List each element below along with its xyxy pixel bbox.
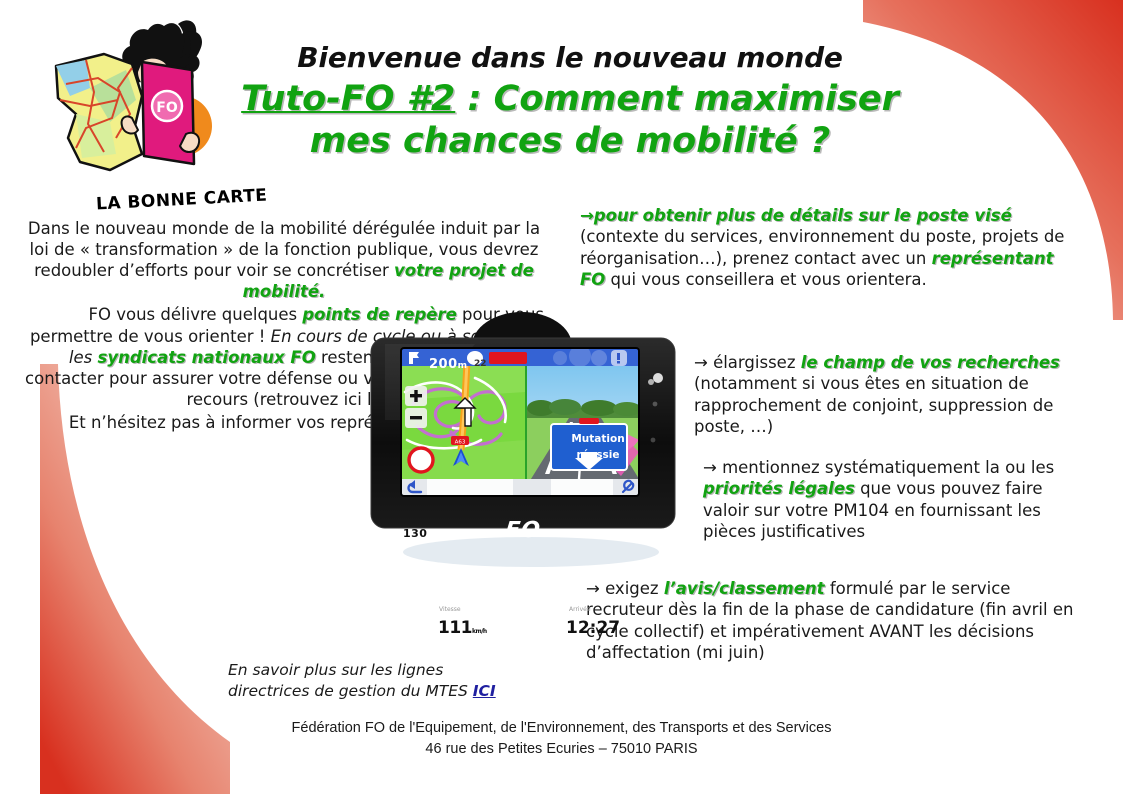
right-item-4: → exigez l’avis/classement formulé par l… [586, 578, 1086, 664]
right-item-2: → élargissez le champ de vos recherches … [694, 352, 1084, 438]
gps-distance-label: 200m [429, 357, 468, 372]
gps-brand-label: FO [504, 518, 542, 543]
gps-sign-line-2: réussie [552, 449, 644, 461]
right-item-1-text-2: qui vous conseillera et vous orientera. [605, 270, 926, 289]
title-line-1: Bienvenue dans le nouveau monde [185, 42, 955, 74]
ici-link[interactable]: ICI [473, 682, 496, 700]
right-item-4-highlight-1: l’avis/classement [664, 579, 825, 598]
right-item-1-highlight-1: pour obtenir plus de détails sur le post… [594, 206, 1012, 225]
right-item-2-highlight-1: le champ de vos recherches [801, 353, 1060, 372]
right-item-3: → mentionnez systématiquement la ou les … [703, 457, 1083, 543]
footer: Fédération FO de l'Equipement, de l'Envi… [0, 718, 1123, 760]
footer-line-2: 46 rue des Petites Ecuries – 75010 PARIS [0, 739, 1123, 760]
left-p2-text-1: FO vous délivre quelques [89, 305, 303, 324]
gps-arrival-caption: Arrivée [569, 606, 591, 613]
gps-distance-value: 200 [429, 357, 458, 372]
gps-sign-line-1: Mutation [552, 433, 644, 445]
gps-speed-limit-value: 130 [403, 527, 427, 540]
page-title: Bienvenue dans le nouveau monde Tuto-FO … [185, 42, 955, 162]
gps-arrival-time: 12:27 [566, 618, 620, 638]
gps-distance-unit: m [458, 361, 468, 371]
right-item-2-text-2: (notamment si vous êtes en situation de … [694, 374, 1053, 436]
gps-speed-number: 111 [438, 618, 472, 638]
gps-speed-unit: km/h [472, 628, 487, 635]
right-item-3-text-1: mentionnez systématiquement la ou les [717, 458, 1054, 477]
right-item-1: →pour obtenir plus de détails sur le pos… [580, 205, 1080, 291]
gps-speed-value: 111km/h [438, 618, 487, 638]
left-p2-highlight-2: syndicats nationaux FO [98, 348, 316, 367]
title-line-3: mes chances de mobilité ? [185, 120, 955, 162]
right-item-4-arrow-icon: → [586, 579, 600, 598]
title-line-2-rest: : Comment maximiser [455, 79, 899, 119]
slide-canvas: FO LA BONNE CARTE Bienvenue dans le nouv… [0, 0, 1123, 794]
footer-line-1: Fédération FO de l'Equipement, de l'Envi… [0, 718, 1123, 739]
gps-speed-caption: Vitesse [439, 606, 461, 613]
mtes-note-text: En savoir plus sur les lignes directrice… [228, 661, 473, 700]
right-item-2-arrow-icon: → [694, 353, 708, 372]
title-tuto-label: Tuto-FO #2 [241, 79, 455, 119]
mtes-note: En savoir plus sur les lignes directrice… [228, 660, 498, 702]
right-item-3-arrow-icon: → [703, 458, 717, 477]
right-item-4-text-1: exigez [600, 579, 664, 598]
left-paragraph-1: Dans le nouveau monde de la mobilité dér… [24, 218, 544, 302]
logo-caption: LA BONNE CARTE [96, 186, 268, 215]
right-item-3-highlight-1: priorités légales [703, 479, 855, 498]
right-item-1-arrow-icon: → [580, 206, 594, 225]
svg-text:A63: A63 [455, 440, 466, 446]
gps-satellite-count: 22 [474, 359, 487, 369]
title-line-2: Tuto-FO #2 : Comment maximiser [185, 78, 955, 120]
gps-device-image: A63 [355, 300, 695, 580]
right-item-2-text-1: élargissez [708, 353, 801, 372]
svg-text:FO: FO [156, 100, 178, 116]
